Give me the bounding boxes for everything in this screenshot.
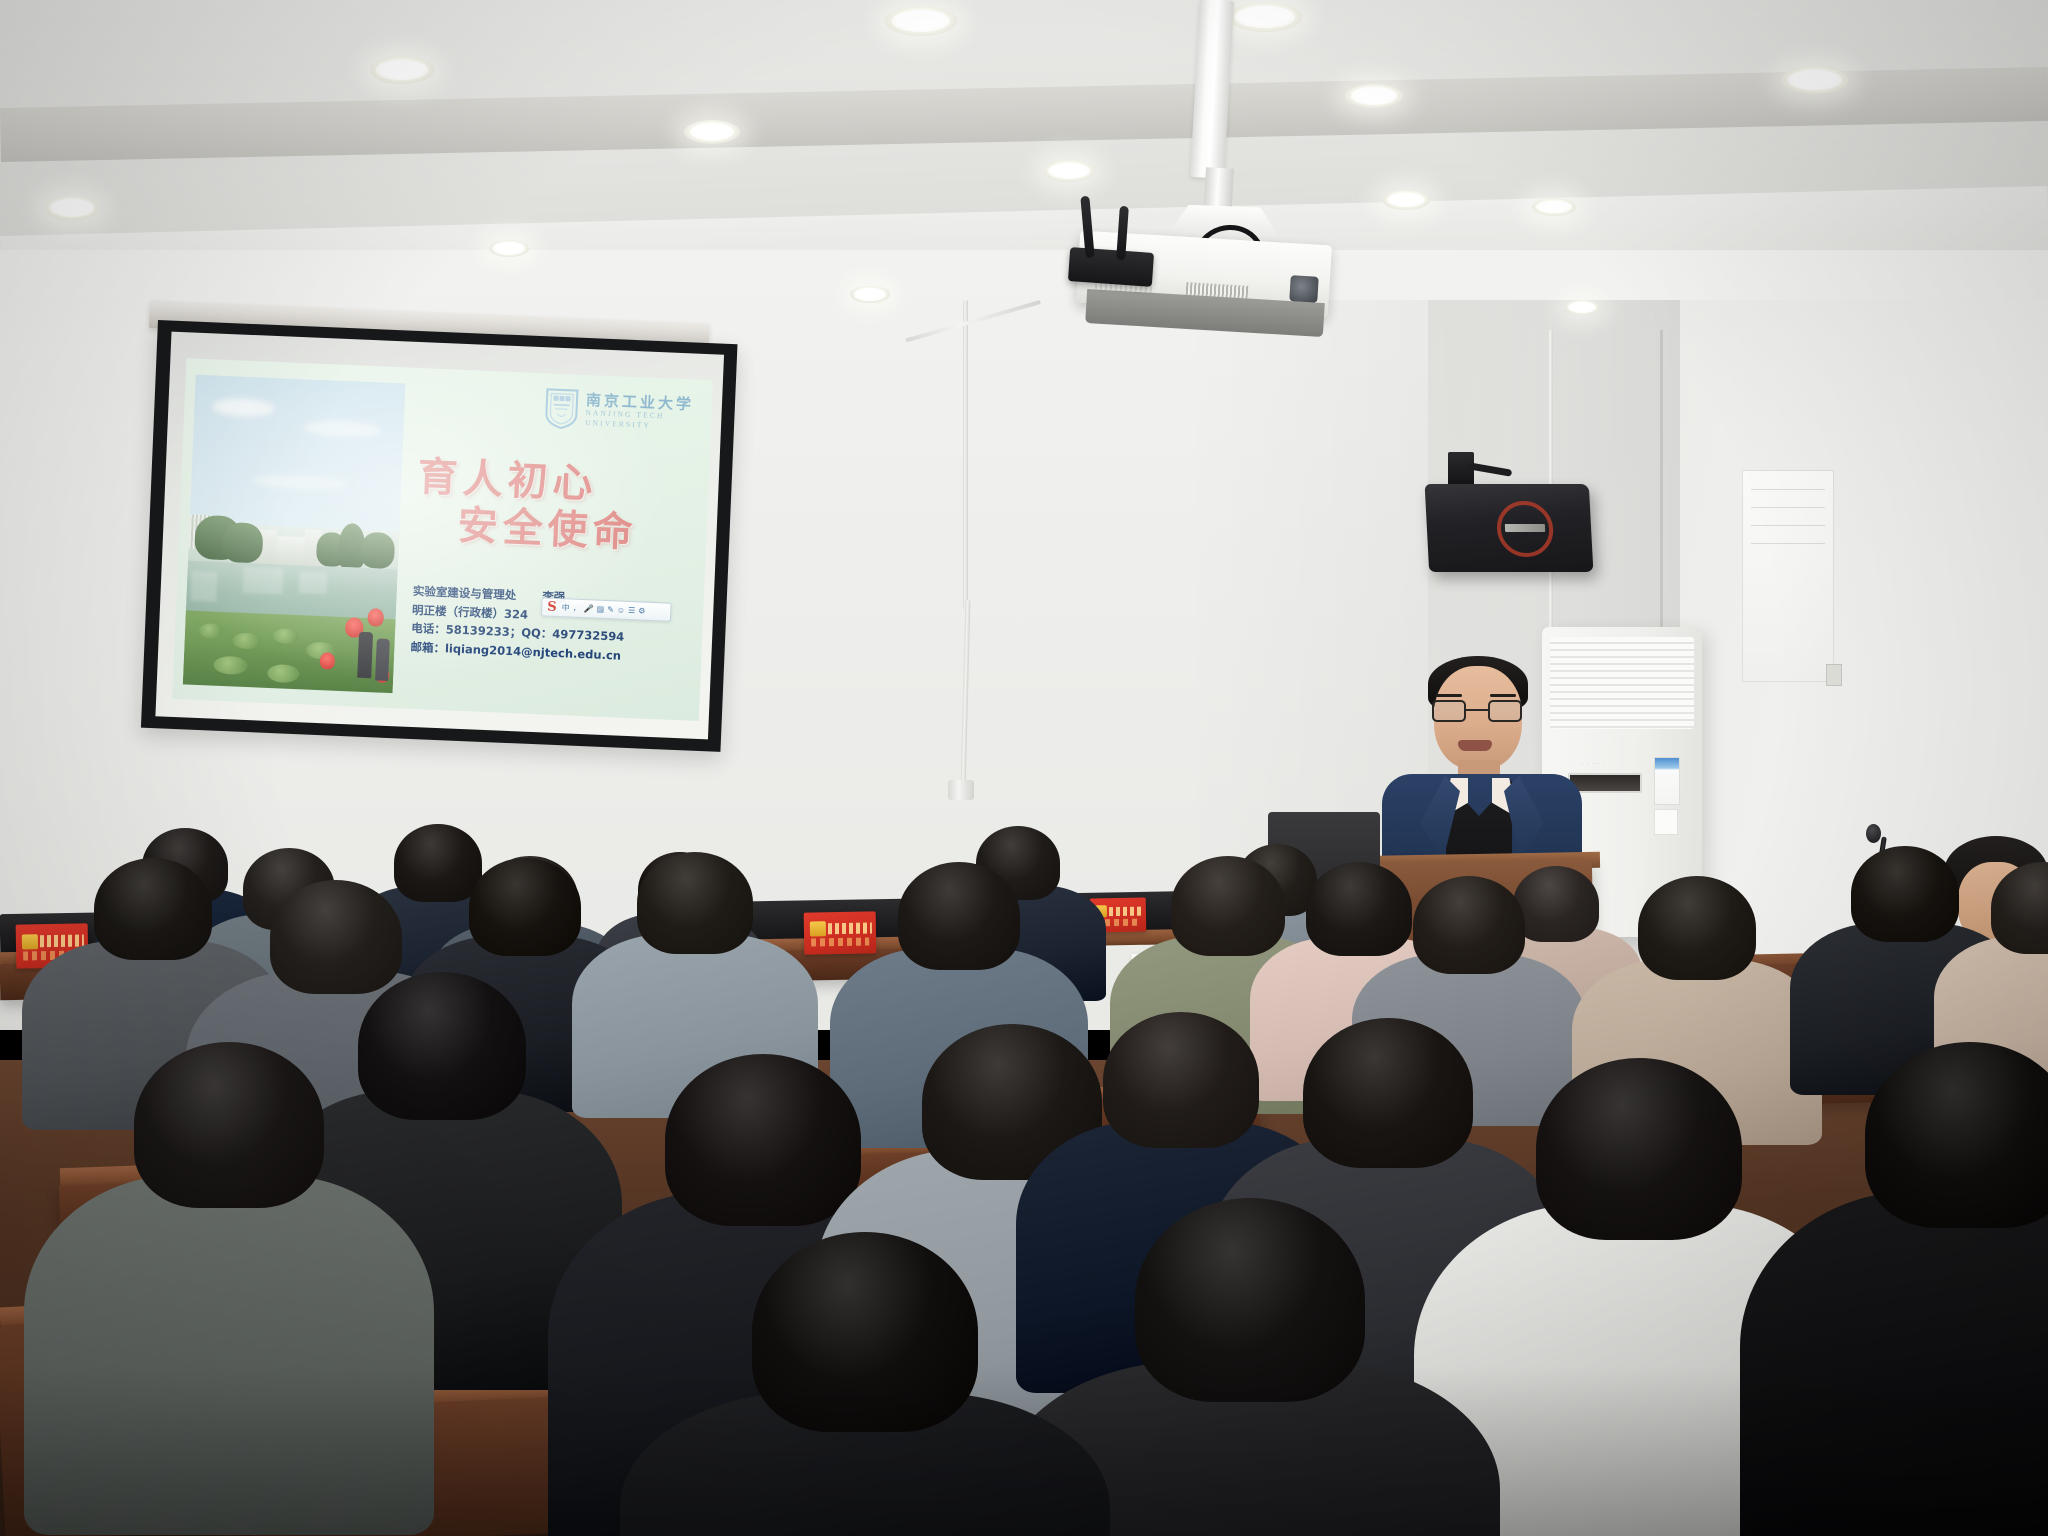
ceiling-downlight <box>489 240 529 257</box>
wall-outlet-box <box>948 780 974 800</box>
slide-title-line2: 安全使命 <box>415 501 713 562</box>
audience-member-head <box>898 862 1020 970</box>
glasses-lens-left <box>1432 700 1466 722</box>
slide-contact-block: 实验室建设与管理处李强 明正楼（行政楼）324 电话：58139233；QQ：4… <box>410 582 713 670</box>
photo-figure <box>357 632 373 679</box>
presenter-eyebrow-right <box>1490 694 1516 697</box>
eyeglasses-icon <box>1432 700 1524 722</box>
notice-line <box>1751 543 1825 544</box>
campus-photo <box>183 375 406 694</box>
photo-red-flower <box>320 652 336 670</box>
chinese-english-toggle-icon[interactable]: 中 <box>562 604 570 612</box>
voice-input-icon[interactable]: 🎤 <box>584 605 594 613</box>
wall-conduit-right <box>1548 330 1553 490</box>
audience-member-head <box>637 852 753 954</box>
lecture-hall-photo: 南京工业大学 NANJING TECH UNIVERSITY 育人初心 安全使命… <box>0 0 2048 1536</box>
slide-content: 南京工业大学 NANJING TECH UNIVERSITY 育人初心 安全使命… <box>172 358 713 721</box>
screen-surface: 南京工业大学 NANJING TECH UNIVERSITY 育人初心 安全使命… <box>155 332 724 740</box>
photo-building <box>276 536 307 565</box>
audience-member-torso <box>1740 1191 2048 1536</box>
audience-member-head <box>1536 1058 1742 1240</box>
ceiling-downlight <box>1532 198 1576 216</box>
ceiling-downlight <box>1043 160 1095 182</box>
audience-member-head <box>134 1042 324 1208</box>
ceiling-downlight <box>684 120 740 144</box>
wall-socket[interactable] <box>1826 664 1842 686</box>
ceiling-downlight <box>1228 2 1302 32</box>
menu-icon[interactable]: ☰ <box>628 606 636 614</box>
microphone-capsule-left <box>1866 824 1881 843</box>
photo-reflection <box>190 571 217 602</box>
audience-member-head <box>1865 1042 2048 1228</box>
wall-conduit-vertical <box>963 300 968 610</box>
notice-line <box>1751 507 1825 508</box>
ceiling-downlight <box>370 56 434 84</box>
audience-member-head <box>469 858 581 956</box>
contact-department: 实验室建设与管理处 <box>413 584 517 602</box>
photo-figure <box>375 638 390 681</box>
emoji-icon[interactable]: ☺ <box>617 606 625 614</box>
punctuation-icon[interactable]: ， <box>573 604 581 612</box>
university-logo: 南京工业大学 NANJING TECH UNIVERSITY <box>544 387 695 435</box>
audience-member <box>1740 1042 2048 1536</box>
settings-gear-icon[interactable]: ⚙ <box>638 607 646 615</box>
ac-spec-sticker <box>1654 809 1678 835</box>
pa-speaker-badge <box>1505 524 1545 532</box>
wifi-router <box>1068 247 1154 287</box>
audience-member-head <box>752 1232 978 1432</box>
presenter-eyebrow-left <box>1436 694 1462 697</box>
glasses-bridge <box>1466 709 1490 711</box>
notice-line <box>1751 525 1825 526</box>
audience-member-torso <box>24 1175 434 1535</box>
sogou-logo-icon[interactable]: S <box>545 600 559 614</box>
ceiling-downlight <box>1382 190 1430 210</box>
audience-member-head <box>1991 862 2048 954</box>
keyboard-icon[interactable]: ▤ <box>596 605 604 613</box>
audience-member-head <box>1413 876 1525 974</box>
ceiling-downlight <box>44 196 100 220</box>
audience-member-head <box>1135 1198 1365 1402</box>
presenter-mouth <box>1458 740 1492 751</box>
university-crest-icon <box>544 387 580 430</box>
photo-tree <box>222 522 264 564</box>
ceiling-downlight <box>1345 84 1403 108</box>
ceiling-downlight <box>885 6 957 36</box>
ceiling-downlight <box>850 286 890 303</box>
photo-red-flower <box>367 608 384 627</box>
audience-member-head <box>1638 876 1756 980</box>
photo-tree <box>360 532 395 569</box>
ceiling-downlight <box>1565 300 1599 315</box>
slide-title: 育人初心 安全使命 <box>415 454 713 563</box>
photo-reflection <box>243 567 284 595</box>
wall-notice-board <box>1742 470 1834 682</box>
wall-pa-speaker <box>1425 484 1594 572</box>
ac-energy-label <box>1654 757 1680 805</box>
notice-line <box>1751 489 1825 490</box>
audience-member <box>24 1042 434 1536</box>
projection-screen: 南京工业大学 NANJING TECH UNIVERSITY 育人初心 安全使命… <box>141 320 738 752</box>
handwriting-icon[interactable]: ✎ <box>607 606 614 614</box>
glasses-lens-right <box>1488 700 1522 722</box>
audience-member <box>620 1232 1110 1536</box>
projector-lens <box>1289 275 1318 303</box>
slide-title-line1: 育人初心 <box>417 454 599 507</box>
photo-reflection <box>299 571 328 594</box>
ceiling-downlight <box>1781 66 1849 94</box>
